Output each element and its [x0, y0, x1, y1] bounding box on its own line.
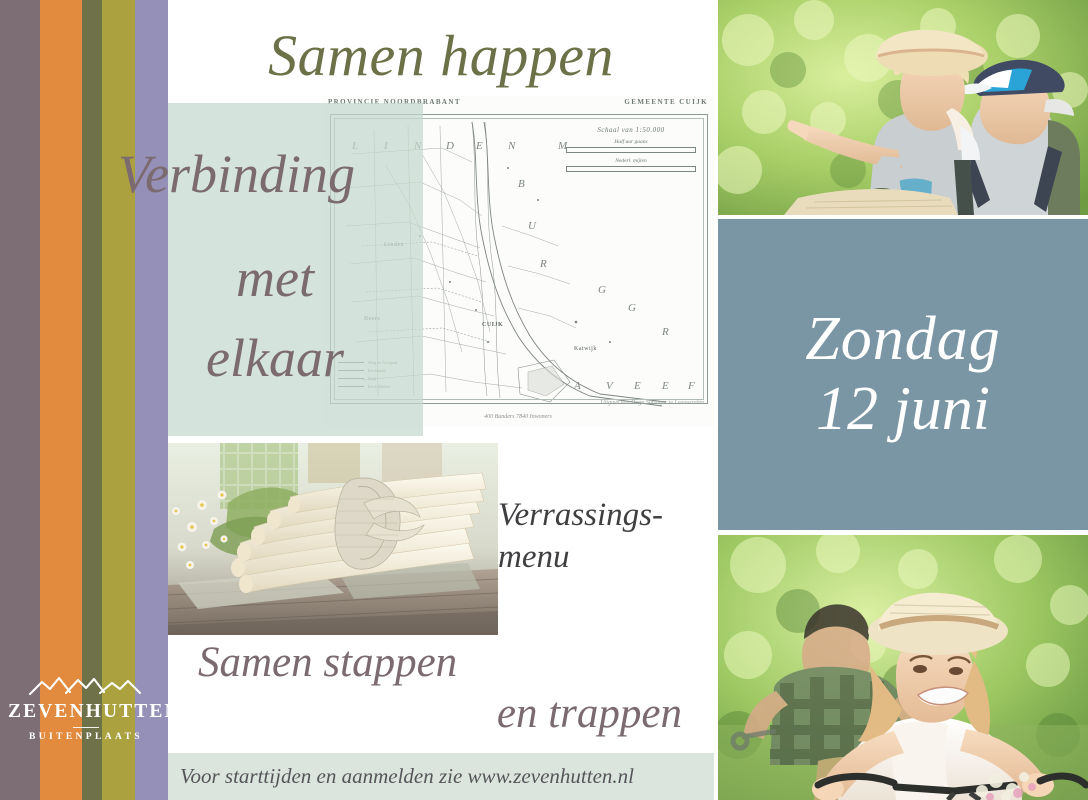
tagline-line-3: elkaar	[110, 330, 440, 386]
map-scale-rule-2	[566, 166, 696, 172]
map-letter: D	[446, 140, 454, 152]
activity-line-1: Samen stappen	[168, 638, 714, 687]
event-day: Zondag	[805, 307, 1000, 373]
event-date-number: 12 juni	[816, 377, 990, 443]
event-date: Zondag 12 juni	[718, 219, 1088, 530]
map-letter: N	[508, 140, 515, 152]
activity-line-2: en trappen	[168, 689, 714, 738]
map-scale-sub-2: Nederl. mijlen	[566, 158, 696, 164]
date-panel: Zondag 12 juni	[718, 219, 1088, 530]
tagline-line-2: met	[110, 250, 440, 306]
logo-subtitle: BUITENPLAATS	[8, 732, 164, 742]
mountains-icon	[26, 672, 146, 698]
map-scale-rule-1	[566, 147, 696, 153]
map-letter: E	[476, 140, 483, 152]
young-couple-cycling-photo	[718, 535, 1088, 800]
tagline-block: Verbinding met elkaar	[110, 146, 440, 386]
map-scale-label: Schaal van 1:50.000	[566, 126, 696, 134]
map-title-municipality: GEMEENTE CUIJK	[624, 98, 708, 106]
menu-line-1: Verrassings-	[498, 494, 713, 536]
map-scale-sub-1: Half uur gaans	[566, 139, 696, 145]
map-letter: M	[558, 140, 567, 152]
map-letter: R	[540, 258, 547, 270]
map-letter: B	[518, 178, 525, 190]
logo-divider	[73, 727, 99, 728]
map-letter: F	[688, 380, 695, 392]
logo-name: ZEVENHUTTEN	[8, 702, 164, 722]
map-letter: A	[574, 380, 581, 392]
map-letter: U	[528, 220, 536, 232]
map-town-katwijk: Katwijk	[574, 346, 597, 352]
asparagus-illustration	[168, 443, 498, 635]
menu-line-2: menu	[498, 536, 713, 578]
map-letter: R	[662, 326, 669, 338]
logo[interactable]: ZEVENHUTTEN BUITENPLAATS	[8, 672, 164, 742]
footer-bar: Voor starttijden en aanmelden zie www.ze…	[168, 753, 714, 800]
map-letter: G	[598, 284, 606, 296]
map-publisher: Uitgave van Hugo Suringar te Leeuwarden	[600, 400, 704, 406]
page-title: Samen happen	[168, 22, 714, 89]
poster-canvas: PROVINCIE NOORDBRABANT GEMEENTE CUIJK Sc…	[0, 0, 1088, 800]
activity-label: Samen stappen en trappen	[168, 638, 714, 738]
map-letter: E	[634, 380, 641, 392]
hiking-photo-illustration	[718, 0, 1088, 215]
map-letter: V	[606, 380, 613, 392]
tagline-line-1: Verbinding	[110, 146, 440, 202]
map-letter: E	[662, 380, 669, 392]
right-column: Zondag 12 juni	[718, 0, 1088, 800]
map-town-cuijk: CUIJK	[482, 322, 503, 328]
map-scale-bar: Schaal van 1:50.000 Half uur gaans Neder…	[566, 126, 696, 172]
map-letter: G	[628, 302, 636, 314]
footer-text[interactable]: Voor starttijden en aanmelden zie www.ze…	[168, 764, 634, 789]
cycling-photo-illustration	[718, 535, 1088, 800]
white-asparagus-photo	[168, 443, 498, 635]
senior-couple-hiking-photo	[718, 0, 1088, 215]
menu-label: Verrassings- menu	[498, 494, 713, 578]
